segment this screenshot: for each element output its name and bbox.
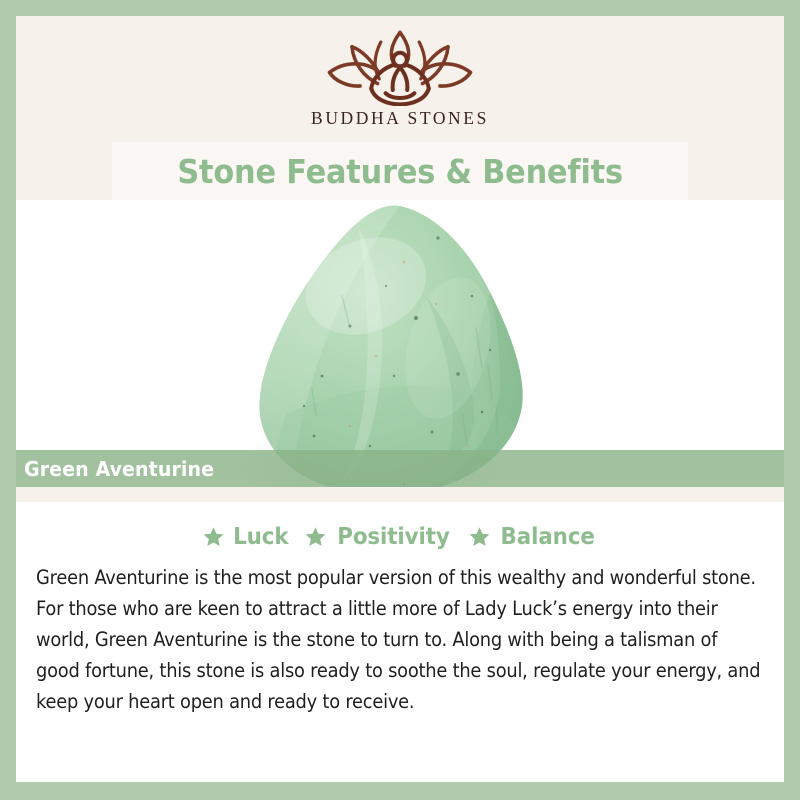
poster: BUDDHA STONES Stone Features & Benefits: [0, 0, 800, 800]
product-name-bar: Green Aventurine: [16, 450, 784, 487]
benefits-list: Luck Positivity Balance: [36, 524, 764, 550]
brand-name: BUDDHA STONES: [311, 108, 489, 129]
page-title: Stone Features & Benefits: [177, 152, 623, 191]
product-name: Green Aventurine: [24, 457, 214, 481]
benefit-item: Positivity: [304, 524, 454, 550]
title-banner: Stone Features & Benefits: [112, 142, 688, 200]
divider-strip: [16, 487, 784, 502]
star-icon: [202, 526, 225, 548]
benefit-label: Luck: [233, 524, 288, 550]
content-area: Luck Positivity Balance Green Aventurine…: [16, 502, 784, 782]
star-icon: [468, 526, 491, 548]
benefit-item: Balance: [468, 524, 598, 550]
benefit-label: Positivity: [337, 524, 450, 550]
inner-panel: BUDDHA STONES Stone Features & Benefits: [16, 16, 784, 782]
benefit-item: Luck: [202, 524, 291, 550]
description-text: Green Aventurine is the most popular ver…: [36, 562, 763, 717]
lotus-meditation-figure-icon: [312, 26, 488, 106]
brand-header: BUDDHA STONES: [16, 16, 784, 140]
star-icon: [304, 526, 327, 548]
benefit-label: Balance: [501, 524, 595, 550]
